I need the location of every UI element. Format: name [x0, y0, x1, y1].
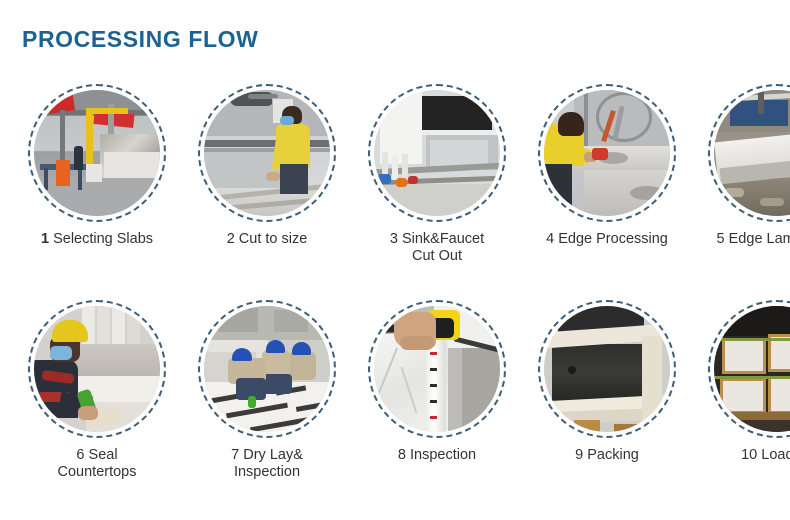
step-8-photo-inspection	[374, 306, 500, 432]
step-6-circle-frame	[28, 300, 166, 438]
step-10-circle-frame	[708, 300, 790, 438]
step-2-caption: 2 Cut to size	[187, 231, 347, 248]
step-7-label: Dry Lay&	[243, 447, 303, 463]
step-4-number: 4	[546, 231, 554, 247]
step-8-circle-frame	[368, 300, 506, 438]
step-3-photo-sink-faucet-cut-out	[374, 90, 500, 216]
flow-step-10[interactable]: 10 Loading	[702, 300, 790, 481]
step-7-number: 7	[231, 447, 239, 463]
flow-step-6[interactable]: 6 Seal Countertops	[22, 300, 172, 481]
flow-row-1: 1 Selecting Slabs 2 Cut to size	[0, 84, 790, 265]
step-1-number: 1	[41, 231, 49, 247]
flow-step-9[interactable]: 9 Packing	[532, 300, 682, 481]
flow-step-2[interactable]: 2 Cut to size	[192, 84, 342, 265]
step-5-photo-edge-lamination	[714, 90, 790, 216]
step-5-circle-frame	[708, 84, 790, 222]
step-4-photo-edge-processing	[544, 90, 670, 216]
step-7-photo-dry-lay-inspection	[204, 306, 330, 432]
step-1-caption: 1 Selecting Slabs	[17, 231, 177, 248]
step-8-caption: 8 Inspection	[357, 447, 517, 464]
step-10-label: Loading	[761, 447, 790, 463]
flow-step-4[interactable]: 4 Edge Processing	[532, 84, 682, 265]
step-9-photo-packing	[544, 306, 670, 432]
step-5-caption: 5 Edge Lamination	[697, 231, 790, 248]
step-1-photo-selecting-slabs	[34, 90, 160, 216]
step-9-number: 9	[575, 447, 583, 463]
step-10-caption: 10 Loading	[697, 447, 790, 464]
step-5-label: Edge Lamination	[729, 231, 790, 247]
step-6-number: 6	[76, 447, 84, 463]
step-6-label-line2: Countertops	[17, 464, 177, 481]
step-1-circle-frame	[28, 84, 166, 222]
step-6-photo-seal-countertops	[34, 306, 160, 432]
step-2-number: 2	[227, 231, 235, 247]
step-3-caption: 3 Sink&Faucet Cut Out	[357, 231, 517, 265]
page-title: PROCESSING FLOW	[22, 28, 258, 51]
flow-step-5[interactable]: 5 Edge Lamination	[702, 84, 790, 265]
step-9-caption: 9 Packing	[527, 447, 687, 464]
step-4-caption: 4 Edge Processing	[527, 231, 687, 248]
step-10-photo-loading	[714, 306, 790, 432]
step-2-photo-cut-to-size	[204, 90, 330, 216]
step-8-number: 8	[398, 447, 406, 463]
step-4-label: Edge Processing	[558, 231, 668, 247]
step-3-label: Sink&Faucet	[402, 231, 484, 247]
step-2-circle-frame	[198, 84, 336, 222]
step-7-circle-frame	[198, 300, 336, 438]
step-9-circle-frame	[538, 300, 676, 438]
step-9-label: Packing	[587, 447, 639, 463]
step-6-label: Seal	[89, 447, 118, 463]
step-7-caption: 7 Dry Lay& Inspection	[187, 447, 347, 481]
step-6-caption: 6 Seal Countertops	[17, 447, 177, 481]
flow-step-3[interactable]: 3 Sink&Faucet Cut Out	[362, 84, 512, 265]
flow-row-2: 6 Seal Countertops 7 Dry Lay& Inspec	[0, 300, 790, 481]
step-5-number: 5	[717, 231, 725, 247]
flow-step-8[interactable]: 8 Inspection	[362, 300, 512, 481]
step-8-label: Inspection	[410, 447, 476, 463]
step-4-circle-frame	[538, 84, 676, 222]
step-3-label-line2: Cut Out	[357, 248, 517, 265]
step-1-label: Selecting Slabs	[53, 231, 153, 247]
step-2-label: Cut to size	[239, 231, 308, 247]
step-10-number: 10	[741, 447, 757, 463]
step-7-label-line2: Inspection	[187, 464, 347, 481]
step-3-circle-frame	[368, 84, 506, 222]
step-3-number: 3	[390, 231, 398, 247]
flow-step-1[interactable]: 1 Selecting Slabs	[22, 84, 172, 265]
flow-step-7[interactable]: 7 Dry Lay& Inspection	[192, 300, 342, 481]
